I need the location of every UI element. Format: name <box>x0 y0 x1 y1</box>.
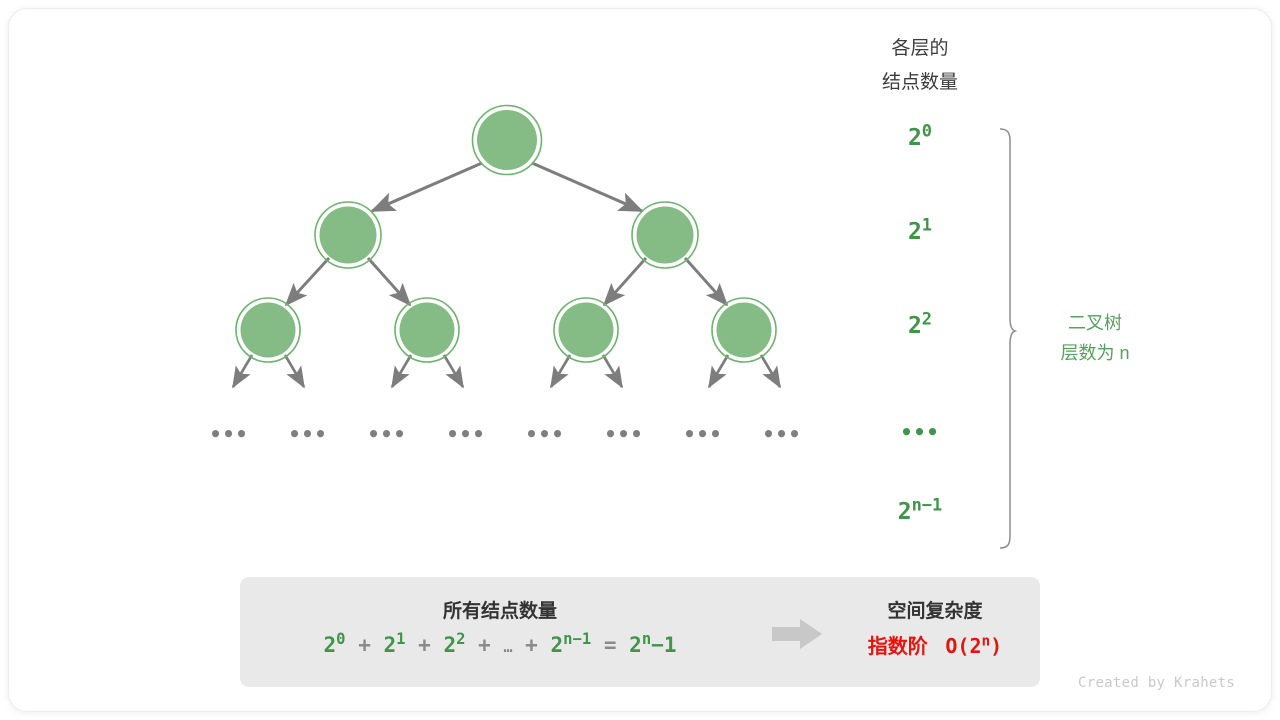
complexity-value: O(2n) <box>933 634 1002 658</box>
summary-formula: 20 + 21 + 22 + … + 2n−1 = 2n−1 <box>240 633 760 657</box>
tree-edges-level3 <box>233 355 780 387</box>
tree-node-l3-1 <box>236 298 300 362</box>
tree-nodes <box>236 106 776 363</box>
formula-result: 2n−1 <box>629 633 676 657</box>
level-brace <box>1000 129 1015 548</box>
column-header: 各层的 结点数量 <box>840 32 1000 100</box>
tree-node-l2-right <box>632 202 698 268</box>
formula-op-4: + <box>525 633 538 657</box>
formula-ellipsis: … <box>503 638 512 656</box>
leaf-ellipsis-5: ••• <box>525 422 565 446</box>
leaf-ellipsis-2: ••• <box>288 422 328 446</box>
level-count-last: 2n−1 <box>845 499 995 525</box>
formula-term-4: 2n−1 <box>550 633 591 657</box>
summary-left-title: 所有结点数量 <box>240 596 760 623</box>
summary-right-title: 空间复杂度 <box>830 596 1040 623</box>
summary-left: 所有结点数量 20 + 21 + 22 + … + 2n−1 = 2n−1 <box>240 577 760 687</box>
leaf-ellipsis-4: ••• <box>446 422 486 446</box>
formula-term-3: 22 <box>443 633 465 657</box>
level-count-ellipsis: ••• <box>845 420 995 444</box>
tree-node-l3-3 <box>554 298 618 362</box>
credit-text: Created by Krahets <box>1078 675 1235 691</box>
summary-box: 所有结点数量 20 + 21 + 22 + … + 2n−1 = 2n−1 空间… <box>240 577 1040 687</box>
tree-edges-level1 <box>372 163 642 211</box>
formula-term-1: 20 <box>324 633 346 657</box>
level-count-2: 22 <box>845 313 995 339</box>
figure-canvas: 各层的 结点数量 20 21 22 ••• 2n−1 二叉树 层数为 n •••… <box>0 0 1280 720</box>
leaf-ellipsis-6: ••• <box>604 422 644 446</box>
column-header-line1: 各层的 <box>840 32 1000 66</box>
formula-equals: = <box>604 633 617 657</box>
tree-node-l3-4 <box>712 298 776 362</box>
level-count-0-exp: 0 <box>922 121 932 141</box>
tree-node-l2-left <box>315 202 381 268</box>
level-count-1-exp: 1 <box>922 215 932 235</box>
brace-label: 二叉树 层数为 n <box>1020 308 1170 368</box>
level-count-1-base: 2 <box>908 219 922 245</box>
level-count-2-base: 2 <box>908 313 922 339</box>
formula-term-2: 21 <box>384 633 406 657</box>
leaf-ellipsis-3: ••• <box>367 422 407 446</box>
summary-complexity: 指数阶 O(2n) <box>830 630 1040 659</box>
complexity-label: 指数阶 <box>868 636 928 658</box>
tree-edges-level2 <box>286 258 727 305</box>
leaf-ellipsis-7: ••• <box>683 422 723 446</box>
column-header-line2: 结点数量 <box>840 66 1000 100</box>
tree-node-root <box>473 106 542 175</box>
level-count-last-exp: n−1 <box>912 495 943 515</box>
brace-label-line1: 二叉树 <box>1020 308 1170 338</box>
formula-op-2: + <box>418 633 431 657</box>
level-count-0: 20 <box>845 125 995 151</box>
level-count-2-exp: 2 <box>922 309 932 329</box>
leaf-ellipsis-8: ••• <box>762 422 802 446</box>
level-count-last-base: 2 <box>898 499 912 525</box>
summary-right: 空间复杂度 指数阶 O(2n) <box>830 577 1040 687</box>
formula-op-3: + <box>478 633 491 657</box>
level-count-0-base: 2 <box>908 125 922 151</box>
leaf-ellipsis-1: ••• <box>209 422 249 446</box>
formula-op-1: + <box>358 633 371 657</box>
level-count-1: 21 <box>845 219 995 245</box>
tree-node-l3-2 <box>395 298 459 362</box>
brace-label-line2: 层数为 n <box>1020 338 1170 368</box>
